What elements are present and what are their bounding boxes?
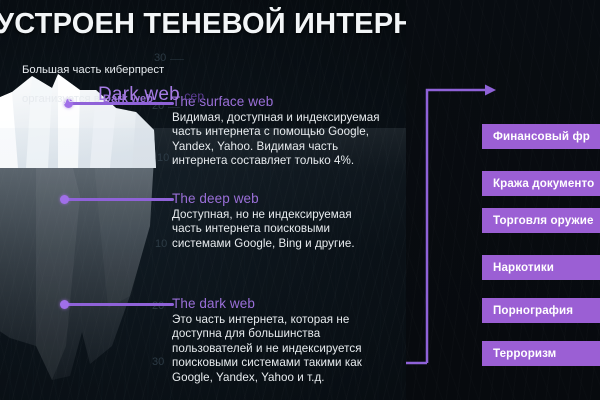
right-panel: [406, 0, 600, 400]
layer-block-dark-web: The dark web Это часть интернета, котора…: [172, 296, 362, 385]
service-item-weapons-trade[interactable]: Торговля оружие: [482, 208, 600, 233]
service-item-financial-fraud[interactable]: Финансовый фр: [482, 124, 600, 149]
page-title: УСТРОЕН ТЕНЕВОЙ ИНТЕРНЕТ?: [0, 8, 470, 41]
service-item-terrorism[interactable]: Терроризм: [482, 341, 600, 366]
connector-line-dark: [66, 303, 174, 306]
service-item-drugs[interactable]: Наркотики: [482, 255, 600, 280]
layer-heading: The deep web: [172, 191, 355, 206]
connector-line-deep: [66, 198, 174, 201]
heading-dark-web: Dark web: [98, 84, 180, 105]
connector-dot-deep: [60, 195, 69, 204]
infographic-slide: 30 20 10 10 20 30 УСТРОЕН ТЕНЕВОЙ ИНТЕРН…: [0, 0, 600, 400]
heading-services: сер: [184, 89, 204, 103]
right-panel-heading: Dark web сер: [98, 84, 204, 106]
depth-label: 10: [157, 152, 169, 164]
layer-heading: The dark web: [172, 296, 362, 311]
layer-body: Это часть интернета, которая не доступна…: [172, 313, 362, 385]
depth-label: 30: [152, 356, 164, 368]
layer-body: Доступная, но не индексируемая часть инт…: [172, 208, 355, 251]
service-item-document-theft[interactable]: Кража документо: [482, 171, 600, 196]
layer-body: Видимая, доступная и индексируемая часть…: [172, 111, 380, 169]
service-item-pornography[interactable]: Порнография: [482, 298, 600, 323]
depth-label: 10: [155, 238, 167, 250]
layer-block-deep-web: The deep web Доступная, но не индексируе…: [172, 191, 355, 251]
lead-line-2: организуется в: [22, 93, 103, 105]
connector-dot-dark: [60, 300, 69, 309]
right-panel-texture: [406, 0, 600, 400]
depth-label: 20: [152, 300, 164, 312]
lead-line-1: Большая часть киберпрест: [22, 64, 164, 76]
